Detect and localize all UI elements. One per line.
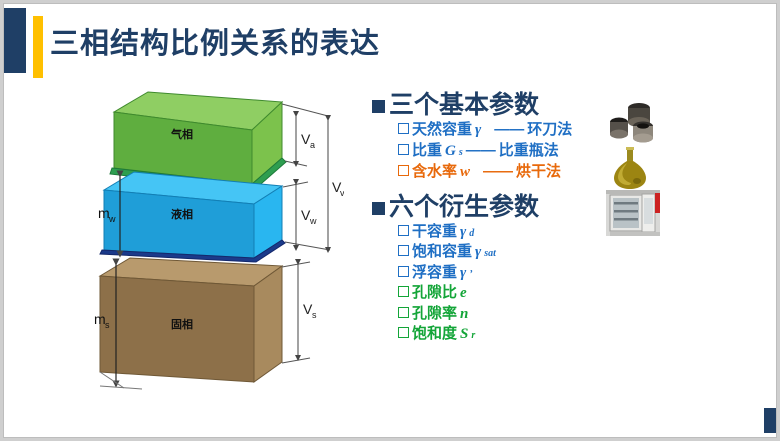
param-subscript: s: [459, 146, 463, 160]
param-method: 烘干法: [516, 162, 561, 183]
param-name: 比重: [412, 141, 442, 162]
basic-parameter-list: 天然容重 γ —— 环刀法 比重 Gs —— 比重瓶法 含水率 w —— 烘干法: [398, 120, 612, 182]
vw-subscript: w: [309, 216, 317, 226]
hollow-square-icon: [398, 286, 409, 297]
gas-phase-block: [114, 92, 282, 184]
param-dash: ——: [483, 162, 513, 183]
param-symbol: S: [460, 325, 468, 345]
header-yellow-bar: [33, 16, 43, 78]
list-item[interactable]: 干容重 γd: [398, 222, 612, 243]
gas-phase-label: 气相: [170, 127, 193, 141]
pycnometer-flask-photo: [610, 146, 650, 190]
liquid-phase-block: [104, 172, 282, 258]
list-item[interactable]: 比重 Gs —— 比重瓶法: [398, 141, 612, 162]
list-item[interactable]: 饱和容重 γsat: [398, 242, 612, 263]
dimension-vs: V s: [298, 262, 317, 358]
param-dash: ——: [494, 120, 524, 141]
bullet-square-icon: [372, 202, 385, 215]
section-heading-derived: 六个衍生参数: [372, 194, 612, 220]
parameters-column: 三个基本参数 天然容重 γ —— 环刀法 比重 Gs —— 比重瓶法 含水率: [372, 92, 612, 345]
mw-label: m: [98, 205, 110, 221]
drying-oven-photo: [604, 188, 662, 238]
param-subscript: ’: [469, 268, 472, 281]
solid-phase-label: 固相: [171, 317, 193, 331]
hollow-square-icon: [398, 327, 409, 338]
list-item[interactable]: 饱和度 Sr: [398, 324, 612, 345]
param-subscript: r: [471, 329, 475, 342]
param-method: 环刀法: [527, 120, 572, 141]
va-subscript: a: [310, 140, 315, 150]
apparatus-photos: [602, 96, 670, 241]
hollow-square-icon: [398, 245, 409, 256]
param-symbol: γ: [475, 243, 481, 263]
param-name: 含水率: [412, 162, 457, 183]
param-name: 饱和容重: [412, 242, 472, 262]
param-name: 浮容重: [412, 263, 457, 283]
hollow-square-icon: [398, 225, 409, 236]
param-subscript: d: [469, 227, 474, 240]
vv-subscript: v: [340, 188, 344, 198]
param-symbol: e: [460, 284, 467, 304]
header-navy-block: [4, 8, 26, 73]
hollow-square-icon: [398, 165, 409, 176]
param-dash: ——: [466, 141, 496, 162]
dimension-vv: V v: [328, 118, 344, 250]
page-title: 三相结构比例关系的表达: [50, 20, 380, 62]
param-symbol: γ: [460, 223, 466, 243]
param-name: 饱和度: [412, 324, 457, 344]
hollow-square-icon: [398, 266, 409, 277]
mw-subscript: w: [108, 214, 116, 224]
section-heading-basic-label: 三个基本参数: [389, 92, 539, 118]
ms-subscript: s: [105, 320, 110, 330]
list-item[interactable]: 天然容重 γ —— 环刀法: [398, 120, 612, 141]
hollow-square-icon: [398, 307, 409, 318]
liquid-phase-label: 液相: [171, 207, 193, 221]
corner-navy-block: [764, 408, 776, 433]
list-item[interactable]: 含水率 w —— 烘干法: [398, 162, 612, 183]
param-symbol: G: [445, 141, 456, 162]
cutting-ring-photo: [606, 96, 662, 148]
param-name: 孔隙率: [412, 304, 457, 324]
list-item[interactable]: 孔隙比 e: [398, 283, 612, 304]
param-name: 天然容重: [412, 120, 472, 141]
param-symbol: w: [460, 162, 470, 183]
param-subscript: sat: [484, 247, 496, 260]
section-heading-basic: 三个基本参数: [372, 92, 612, 118]
slide-canvas: 三相结构比例关系的表达 三个基本参数 天然容重 γ —— 环刀法 比重 Gs —…: [4, 4, 776, 437]
section-heading-derived-label: 六个衍生参数: [389, 194, 539, 220]
vs-subscript: s: [312, 310, 317, 320]
param-name: 孔隙比: [412, 283, 457, 303]
dimension-va: V a: [296, 114, 315, 164]
param-symbol: n: [460, 305, 468, 325]
ms-label: m: [94, 311, 106, 327]
three-phase-block-diagram: 气相 液相 固相 V a: [82, 90, 344, 410]
derived-parameter-list: 干容重 γd 饱和容重 γsat 浮容重 γ’ 孔隙比 e 孔隙率: [398, 222, 612, 345]
list-item[interactable]: 孔隙率 n: [398, 304, 612, 325]
bullet-square-icon: [372, 100, 385, 113]
param-symbol: γ: [460, 264, 466, 284]
hollow-square-icon: [398, 144, 409, 155]
param-symbol: γ: [475, 120, 481, 141]
hollow-square-icon: [398, 123, 409, 134]
param-method: 比重瓶法: [499, 141, 559, 162]
list-item[interactable]: 浮容重 γ’: [398, 263, 612, 284]
param-name: 干容重: [412, 222, 457, 242]
dimension-vw: V w: [296, 182, 317, 248]
